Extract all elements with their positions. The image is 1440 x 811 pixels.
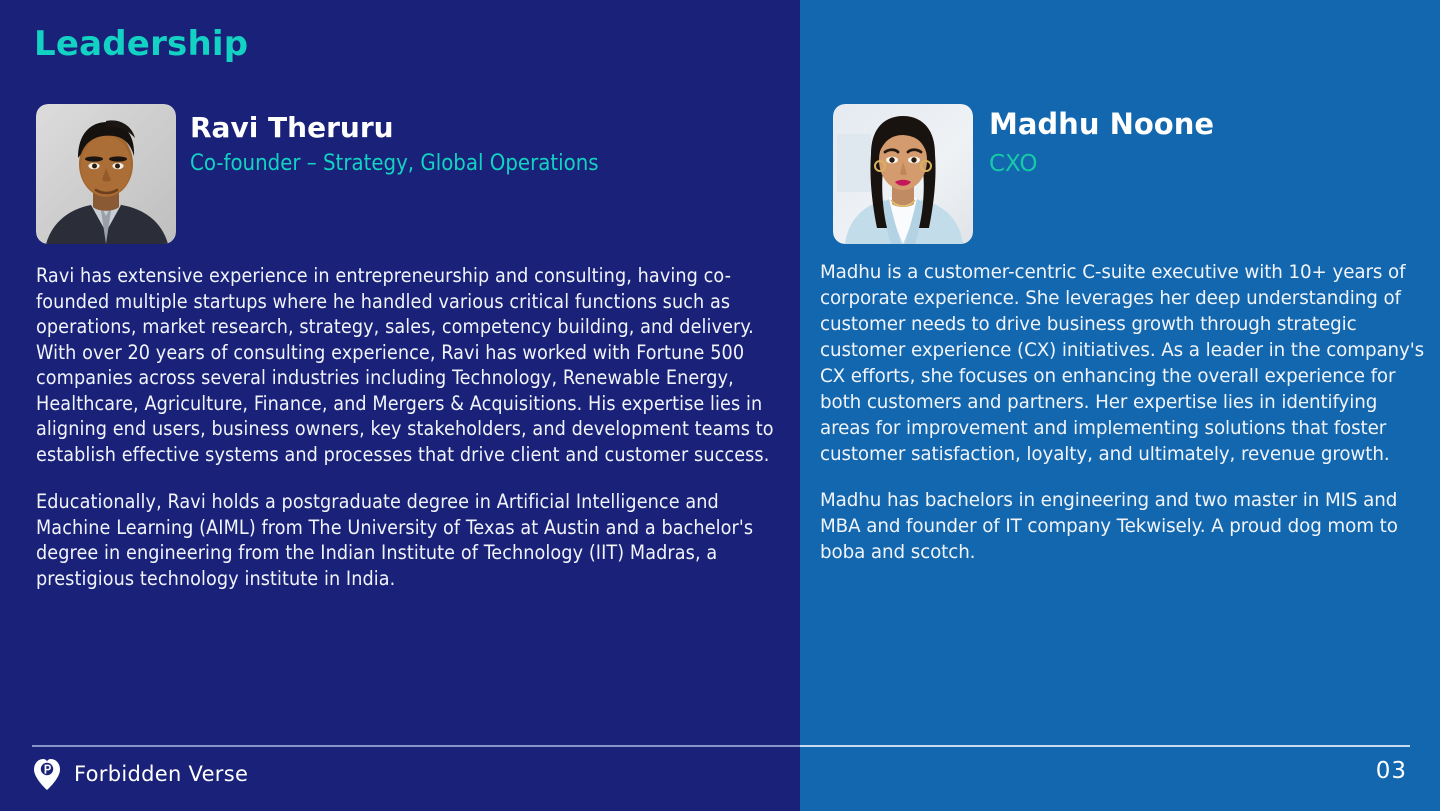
footer-divider-right xyxy=(800,745,1410,747)
brand-name: Forbidden Verse xyxy=(74,764,248,785)
person-name: Ravi Theruru xyxy=(190,112,599,144)
person-role: CXO xyxy=(989,151,1214,179)
person-name: Madhu Noone xyxy=(989,108,1214,141)
avatar-ravi xyxy=(36,104,176,244)
leadership-slide: Leadership xyxy=(0,0,1440,811)
bio-ravi: Ravi has extensive experience in entrepr… xyxy=(36,263,784,591)
person-meta-ravi: Ravi Theruru Co-founder – Strategy, Glob… xyxy=(190,104,599,178)
portrait-ravi-icon xyxy=(36,104,176,244)
footer-brand: Forbidden Verse xyxy=(33,758,248,790)
bio-madhu: Madhu is a customer-centric C-suite exec… xyxy=(820,260,1425,566)
person-card-madhu: Madhu Noone CXO xyxy=(833,104,1214,244)
page-number: 03 xyxy=(1376,760,1407,783)
forbidden-verse-logo-icon xyxy=(33,758,61,790)
page-title: Leadership xyxy=(34,27,248,61)
left-panel: Leadership xyxy=(0,0,800,811)
bio-paragraph: Ravi has extensive experience in entrepr… xyxy=(36,263,784,467)
bio-paragraph: Educationally, Ravi holds a postgraduate… xyxy=(36,489,784,591)
avatar-madhu xyxy=(833,104,973,244)
bio-paragraph: Madhu is a customer-centric C-suite exec… xyxy=(820,260,1425,468)
portrait-madhu-icon xyxy=(833,104,973,244)
person-role: Co-founder – Strategy, Global Operations xyxy=(190,151,599,177)
bio-paragraph: Madhu has bachelors in engineering and t… xyxy=(820,488,1425,566)
person-meta-madhu: Madhu Noone CXO xyxy=(989,104,1214,179)
person-card-ravi: Ravi Theruru Co-founder – Strategy, Glob… xyxy=(36,104,599,244)
